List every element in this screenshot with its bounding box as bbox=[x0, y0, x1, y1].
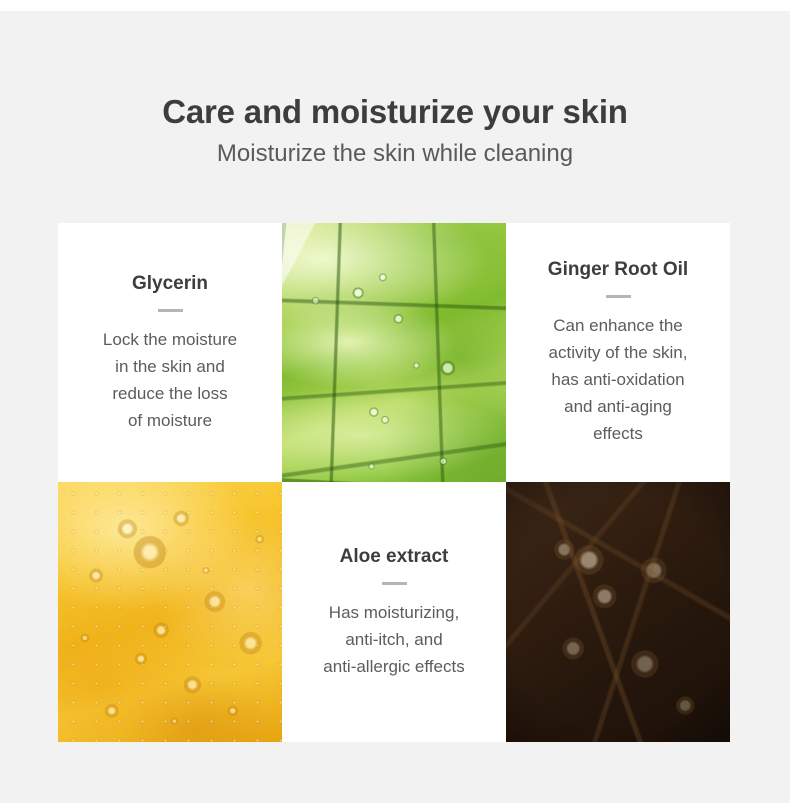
infographic-page: Care and moisturize your skin Moisturize… bbox=[0, 0, 790, 803]
ingredient-card-aloe-extract: Aloe extract Has moisturizing, anti-itch… bbox=[282, 482, 506, 742]
header: Care and moisturize your skin Moisturize… bbox=[0, 0, 790, 170]
ingredient-photo-golden-glycerin-liquid bbox=[58, 482, 282, 742]
title-divider bbox=[158, 309, 183, 312]
ingredient-description: Has moisturizing, anti-itch, and anti-al… bbox=[323, 599, 464, 680]
ingredient-description: Can enhance the activity of the skin, ha… bbox=[549, 312, 688, 447]
ingredient-title: Glycerin bbox=[132, 272, 208, 296]
image-vignette-layer bbox=[506, 482, 730, 742]
ingredient-title: Ginger Root Oil bbox=[548, 258, 688, 282]
ingredient-title: Aloe extract bbox=[340, 545, 449, 569]
golden-glycerin-liquid-image bbox=[58, 482, 282, 742]
title-divider bbox=[606, 295, 631, 298]
ingredient-grid: Glycerin Lock the moisture in the skin a… bbox=[58, 223, 730, 742]
page-subtitle: Moisturize the skin while cleaning bbox=[0, 132, 790, 170]
ingredient-card-ginger-root-oil: Ginger Root Oil Can enhance the activity… bbox=[506, 223, 730, 482]
image-bubbles-layer bbox=[282, 223, 506, 482]
title-divider bbox=[382, 582, 407, 585]
cucumber-aloe-slices-image bbox=[282, 223, 506, 482]
ginger-root-image bbox=[506, 482, 730, 742]
ingredient-photo-ginger-root bbox=[506, 482, 730, 742]
page-title: Care and moisturize your skin bbox=[0, 0, 790, 132]
image-bubbles-layer bbox=[58, 482, 282, 742]
ingredient-photo-cucumber-aloe-slices bbox=[282, 223, 506, 482]
ingredient-description: Lock the moisture in the skin and reduce… bbox=[103, 326, 237, 434]
ingredient-card-glycerin: Glycerin Lock the moisture in the skin a… bbox=[58, 223, 282, 482]
